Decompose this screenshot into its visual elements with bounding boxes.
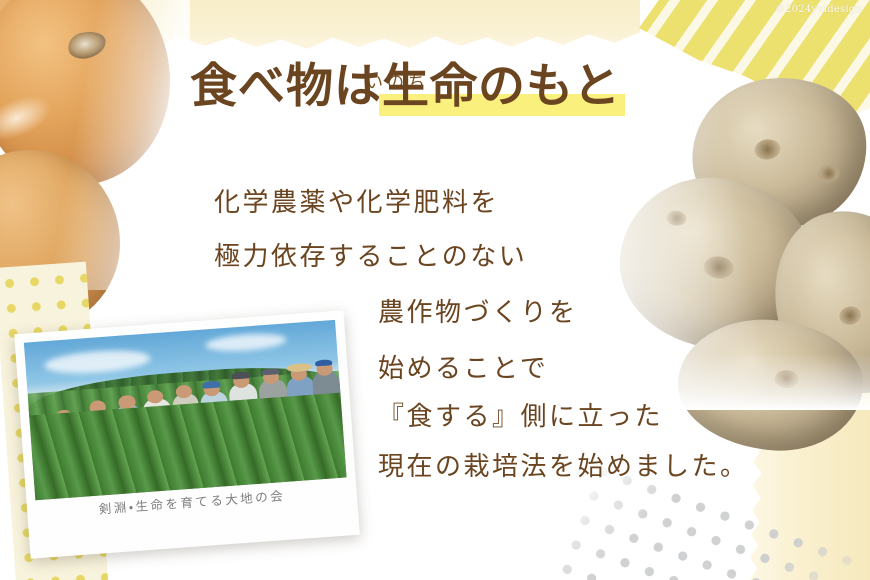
body-line-3: 農作物づくりを (378, 292, 578, 329)
potato-photo (580, 70, 870, 400)
photo-card: 剣淵・生命を育てる大地の会 (14, 310, 360, 559)
poster-canvas: 剣淵・生命を育てる大地の会 いのち 食べ物は生命のもと 化学農薬や化学肥料を 極… (0, 0, 870, 580)
copyright-notice: ©2024yuidesign (775, 4, 862, 15)
farmers-group-photo (24, 320, 347, 500)
page-title: 食べ物は生命のもと (190, 62, 621, 111)
body-line-4: 始めることで (378, 348, 548, 385)
cap-icon (261, 368, 280, 376)
cap-icon (232, 371, 251, 379)
body-line-2: 極力依存することのない (214, 236, 527, 273)
onion-photo-fade (0, 0, 190, 290)
body-line-6: 現在の栽培法を始めました。 (378, 446, 749, 483)
cloud-shape (205, 331, 287, 353)
headline-highlighted-part: 生命のもと (382, 59, 621, 114)
onion-photo (0, 0, 190, 290)
body-line-1: 化学農薬や化学肥料を (214, 182, 499, 219)
headline-block: いのち 食べ物は生命のもと (190, 62, 621, 111)
headline-plain-part: 食べ物は (190, 59, 382, 114)
bandana-icon (203, 381, 221, 389)
cloud-shape (44, 348, 151, 376)
